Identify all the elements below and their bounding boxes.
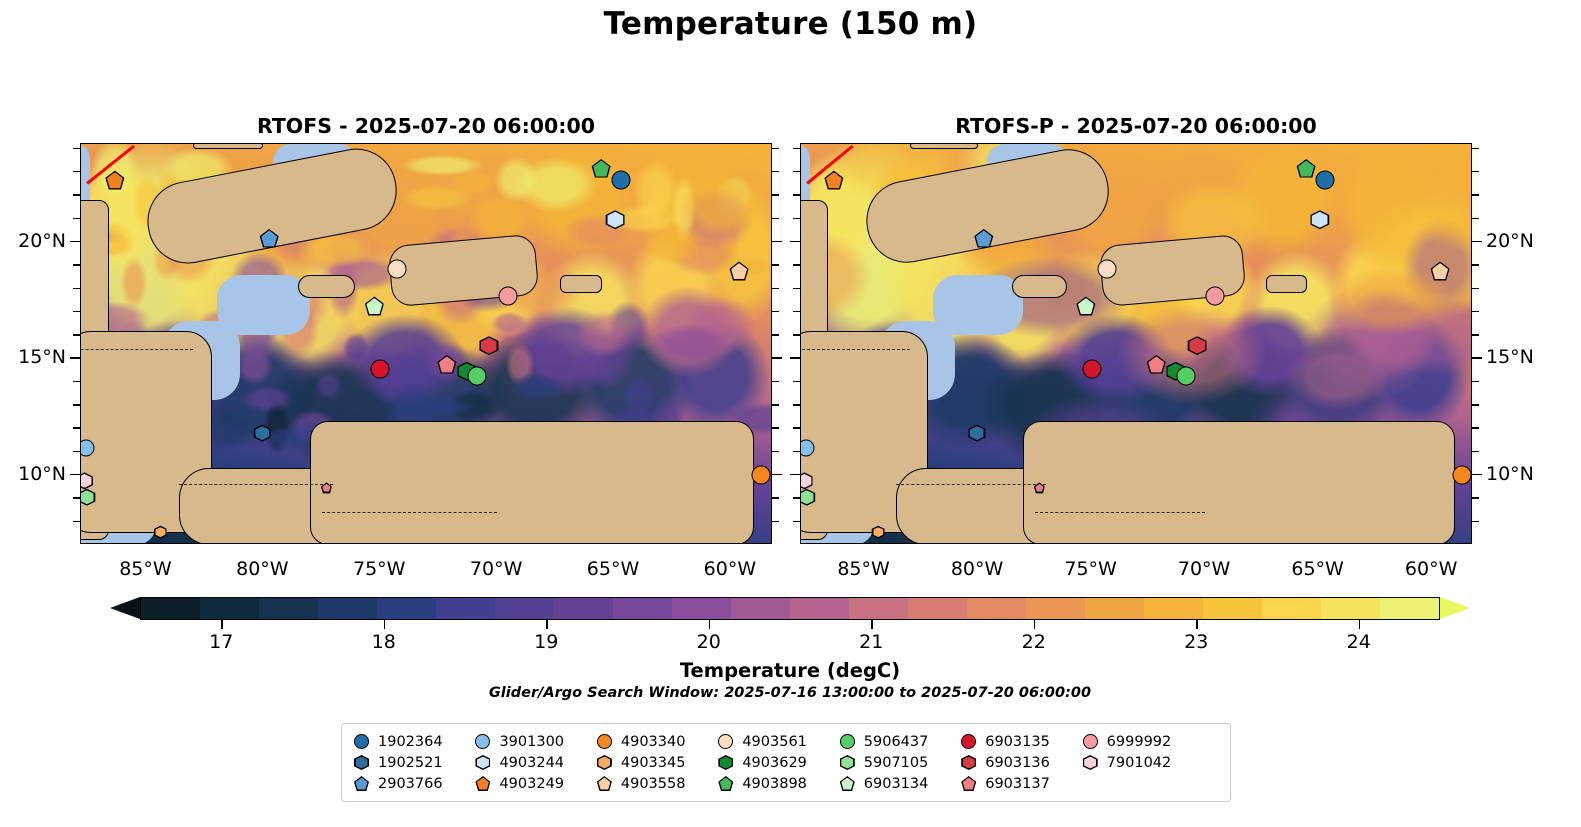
y-axis-tick	[793, 334, 800, 335]
legend-entry-4903345[interactable]: 4903345	[597, 755, 701, 771]
y-axis-tick	[1472, 381, 1479, 382]
float-marker-6999992[interactable]	[1206, 286, 1225, 305]
legend-marker-hexagon-icon	[475, 755, 490, 770]
landmass-jamaica	[298, 275, 354, 298]
y-axis-tick	[772, 427, 779, 428]
legend-entry-4903629[interactable]: 4903629	[718, 755, 822, 771]
landmass-puerto-rico	[560, 275, 602, 294]
colorbar-segment	[436, 598, 495, 619]
y-axis-tick	[1472, 521, 1479, 522]
y-axis-label: 20°N	[4, 230, 66, 252]
legend-marker-pentagon-icon	[840, 776, 855, 791]
colorbar-segment	[731, 598, 790, 619]
float-marker-6903135[interactable]	[371, 359, 390, 378]
legend-entry-3901300[interactable]: 3901300	[475, 734, 579, 750]
y-axis-tick	[772, 171, 779, 172]
y-axis-tick	[793, 381, 800, 382]
country-border	[179, 484, 333, 485]
marker-fill	[731, 263, 747, 279]
x-axis-label: 65°W	[587, 558, 639, 580]
float-marker-4903561[interactable]	[1098, 259, 1117, 278]
colorbar-tick-label: 18	[372, 631, 396, 653]
marker-fill	[976, 230, 992, 246]
map-frame-rtofs[interactable]	[80, 143, 772, 544]
y-axis-tick	[772, 194, 779, 195]
legend-entry-6999992[interactable]: 6999992	[1083, 734, 1187, 750]
y-axis-tick	[73, 334, 80, 335]
legend-marker-hexagon-icon	[840, 755, 855, 770]
colorbar-tick-label: 19	[534, 631, 558, 653]
colorbar-tick	[546, 620, 547, 629]
legend-label: 5907105	[864, 755, 929, 771]
y-axis-tick	[793, 451, 800, 452]
country-border	[896, 484, 1046, 485]
float-marker-6903136[interactable]	[1188, 336, 1207, 355]
float-marker-2903766[interactable]	[260, 229, 279, 248]
colorbar-tick-label: 17	[209, 631, 233, 653]
legend-entry-2903766[interactable]: 2903766	[354, 776, 458, 792]
marker-fill	[1432, 263, 1448, 279]
y-axis-tick	[772, 218, 779, 219]
legend-entry-1902364[interactable]: 1902364	[354, 734, 458, 750]
y-axis-label: 10°N	[4, 463, 66, 485]
y-axis-tick	[70, 241, 80, 242]
colorbar-segment	[318, 598, 377, 619]
float-marker-2903766[interactable]	[974, 229, 993, 248]
float-marker-1902364[interactable]	[612, 171, 631, 190]
y-axis-tick	[793, 288, 800, 289]
x-axis-label: 85°W	[119, 558, 171, 580]
legend-entry-1902521[interactable]: 1902521	[354, 755, 458, 771]
legend-label: 6903134	[864, 776, 929, 792]
y-axis-tick	[772, 497, 779, 498]
float-marker-6903137b[interactable]	[321, 482, 332, 493]
legend-marker-pentagon-icon	[961, 776, 976, 791]
landmass-florida	[193, 143, 263, 149]
y-axis-tick	[790, 474, 800, 475]
colorbar-tick	[1359, 620, 1360, 629]
colorbar-gradient	[140, 597, 1440, 620]
colorbar-segment	[1026, 598, 1085, 619]
landmass-colombia	[310, 421, 754, 544]
legend-entry-6903136[interactable]: 6903136	[961, 755, 1065, 771]
legend-entry-5907105[interactable]: 5907105	[840, 755, 944, 771]
legend-entry-4903898[interactable]: 4903898	[718, 776, 822, 792]
legend-label: 7901042	[1107, 755, 1172, 771]
y-axis-tick	[1472, 311, 1479, 312]
float-id-legend: 1902364190252129037663901300490324449032…	[341, 723, 1231, 802]
y-axis-tick	[1472, 194, 1479, 195]
legend-label: 4903244	[499, 755, 564, 771]
y-axis-label: 15°N	[4, 346, 66, 368]
country-border	[322, 512, 497, 513]
legend-label: 6903136	[985, 755, 1050, 771]
legend-entry-4903561[interactable]: 4903561	[718, 734, 822, 750]
float-marker-6903137b[interactable]	[1034, 482, 1045, 493]
legend-label: 1902521	[378, 755, 443, 771]
colorbar-tick-label: 21	[859, 631, 883, 653]
legend-marker-pentagon-icon	[475, 776, 490, 791]
y-axis-tick	[1472, 404, 1479, 405]
colorbar-segment	[790, 598, 849, 619]
colorbar-segment	[1085, 598, 1144, 619]
y-axis-tick	[790, 241, 800, 242]
y-axis-tick	[793, 521, 800, 522]
x-axis-label: 85°W	[837, 558, 889, 580]
y-axis-tick	[73, 451, 80, 452]
legend-entry-5906437[interactable]: 5906437	[840, 734, 944, 750]
legend-entry-4903558[interactable]: 4903558	[597, 776, 701, 792]
marker-fill	[439, 356, 455, 372]
y-axis-tick	[793, 497, 800, 498]
legend-label: 4903561	[742, 734, 807, 750]
y-axis-tick	[793, 404, 800, 405]
y-axis-label: 10°N	[1486, 463, 1534, 485]
colorbar-segment	[141, 598, 200, 619]
y-axis-tick	[73, 148, 80, 149]
y-axis-label: 20°N	[1486, 230, 1534, 252]
legend-label: 4903558	[621, 776, 686, 792]
colorbar-extend-max	[1440, 597, 1470, 619]
float-marker-4903340[interactable]	[752, 466, 771, 485]
float-marker-5907105[interactable]	[800, 489, 815, 506]
float-marker-6903137[interactable]	[1147, 355, 1166, 374]
legend-label: 6903137	[985, 776, 1050, 792]
float-marker-6999992[interactable]	[498, 286, 517, 305]
y-axis-tick	[772, 404, 779, 405]
y-axis-tick	[772, 381, 779, 382]
colorbar-segment	[1262, 598, 1321, 619]
x-axis-label: 70°W	[1178, 558, 1230, 580]
continental-shelf	[217, 275, 311, 336]
y-axis-tick	[1472, 264, 1479, 265]
y-axis-tick	[1472, 427, 1479, 428]
y-axis-tick	[793, 148, 800, 149]
x-axis-label: 65°W	[1291, 558, 1343, 580]
legend-label: 1902364	[378, 734, 443, 750]
legend-marker-circle-icon	[961, 734, 976, 749]
colorbar-tick	[384, 620, 385, 629]
y-axis-tick	[793, 427, 800, 428]
x-axis-label: 80°W	[236, 558, 288, 580]
legend-entry-6903134[interactable]: 6903134	[840, 776, 944, 792]
float-marker-4903898[interactable]	[592, 159, 611, 178]
float-marker-5906437[interactable]	[1176, 366, 1195, 385]
legend-label: 3901300	[499, 734, 564, 750]
continental-shelf	[933, 275, 1024, 336]
y-axis-tick	[73, 521, 80, 522]
float-marker-4903558[interactable]	[730, 262, 749, 281]
map-panel-rtofs-p: RTOFS-P - 2025-07-20 06:00:00	[800, 143, 1472, 544]
float-marker-1902364[interactable]	[1316, 171, 1335, 190]
y-axis-tick	[1472, 334, 1479, 335]
float-marker-4903249[interactable]	[824, 171, 843, 190]
colorbar-segment	[1321, 598, 1380, 619]
legend-label: 4903340	[621, 734, 686, 750]
landmass-jamaica	[1012, 275, 1066, 298]
colorbar-tick-label: 22	[1022, 631, 1046, 653]
colorbar-segment	[495, 598, 554, 619]
search-window-subtitle: Glider/Argo Search Window: 2025-07-16 13…	[140, 685, 1440, 701]
colorbar-segment	[1144, 598, 1203, 619]
legend-entry-6903135[interactable]: 6903135	[961, 734, 1065, 750]
colorbar-tick-label: 24	[1347, 631, 1371, 653]
float-marker-4903345[interactable]	[872, 526, 885, 539]
y-axis-tick	[793, 194, 800, 195]
float-marker-5906437[interactable]	[468, 366, 487, 385]
float-marker-4903340[interactable]	[1452, 466, 1471, 485]
panel-title-rtofs-p: RTOFS-P - 2025-07-20 06:00:00	[800, 114, 1472, 138]
legend-label: 6999992	[1107, 734, 1172, 750]
y-axis-label: 15°N	[1486, 346, 1534, 368]
country-border	[1035, 512, 1205, 513]
figure-canvas: Temperature (150 m) RTOFS - 2025-07-20 0…	[0, 0, 1581, 827]
y-axis-tick	[1472, 218, 1479, 219]
legend-marker-hexagon-icon	[354, 755, 369, 770]
y-axis-tick	[73, 497, 80, 498]
x-axis-label: 60°W	[704, 558, 756, 580]
y-axis-tick	[793, 171, 800, 172]
legend-entry-6903137[interactable]: 6903137	[961, 776, 1065, 792]
legend-label: 6903135	[985, 734, 1050, 750]
y-axis-tick	[1472, 148, 1479, 149]
y-axis-tick	[772, 357, 782, 358]
y-axis-tick	[1472, 451, 1479, 452]
y-axis-tick	[73, 218, 80, 219]
colorbar-segment	[377, 598, 436, 619]
float-marker-7901042[interactable]	[800, 472, 813, 489]
float-marker-4903244[interactable]	[606, 210, 625, 229]
legend-label: 4903629	[742, 755, 807, 771]
float-marker-4903898[interactable]	[1297, 159, 1316, 178]
legend-marker-circle-icon	[597, 734, 612, 749]
y-axis-tick	[1472, 241, 1482, 242]
marker-fill	[261, 230, 277, 246]
colorbar-segment	[554, 598, 613, 619]
x-axis-label: 70°W	[470, 558, 522, 580]
float-marker-4903244[interactable]	[1310, 210, 1329, 229]
y-axis-tick	[73, 264, 80, 265]
legend-entry-7901042[interactable]: 7901042	[1083, 755, 1187, 771]
x-axis-label: 75°W	[353, 558, 405, 580]
country-border	[800, 349, 910, 350]
colorbar-segment	[613, 598, 672, 619]
colorbar-extend-min	[110, 597, 140, 619]
colorbar-segment	[200, 598, 259, 619]
colorbar-tick	[709, 620, 710, 629]
marker-fill	[1148, 356, 1164, 372]
marker-fill	[1298, 160, 1314, 176]
y-axis-tick	[772, 334, 779, 335]
legend-label: 4903345	[621, 755, 686, 771]
y-axis-tick	[772, 311, 779, 312]
colorbar-tick	[1034, 620, 1035, 629]
legend-marker-pentagon-icon	[597, 776, 612, 791]
marker-fill	[1078, 298, 1094, 314]
float-marker-5907105[interactable]	[80, 489, 95, 506]
landmass-florida	[910, 143, 978, 149]
float-marker-4903561[interactable]	[387, 259, 406, 278]
y-axis-tick	[790, 357, 800, 358]
y-axis-tick	[73, 171, 80, 172]
colorbar: 1718192021222324Temperature (degC)Glider…	[140, 597, 1440, 620]
legend-marker-circle-icon	[354, 734, 369, 749]
y-axis-tick	[772, 148, 779, 149]
float-marker-6903134[interactable]	[365, 297, 384, 316]
legend-marker-circle-icon	[1083, 734, 1098, 749]
marker-fill	[593, 160, 609, 176]
map-frame-rtofs-p[interactable]	[800, 143, 1472, 544]
legend-entry-4903340[interactable]: 4903340	[597, 734, 701, 750]
country-border	[80, 349, 193, 350]
colorbar-segment	[849, 598, 908, 619]
marker-fill	[107, 172, 123, 188]
y-axis-tick	[1472, 497, 1479, 498]
colorbar-segment	[672, 598, 731, 619]
float-marker-6903135[interactable]	[1082, 359, 1101, 378]
y-axis-tick	[772, 451, 779, 452]
marker-fill	[826, 172, 842, 188]
float-marker-1902521[interactable]	[968, 425, 985, 442]
y-axis-tick	[73, 404, 80, 405]
colorbar-tick	[871, 620, 872, 629]
y-axis-tick	[73, 288, 80, 289]
legend-entry-4903244[interactable]: 4903244	[475, 755, 579, 771]
colorbar-tick	[221, 620, 222, 629]
y-axis-tick	[793, 264, 800, 265]
legend-marker-hexagon-icon	[597, 755, 612, 770]
map-panel-rtofs: RTOFS - 2025-07-20 06:00:00	[80, 143, 772, 544]
float-marker-7901042[interactable]	[80, 472, 93, 489]
colorbar-tick-label: 23	[1184, 631, 1208, 653]
colorbar-segment	[1380, 598, 1439, 619]
landmass-colombia	[1023, 421, 1454, 544]
y-axis-tick	[73, 381, 80, 382]
x-axis-label: 75°W	[1064, 558, 1116, 580]
legend-marker-circle-icon	[718, 734, 733, 749]
y-axis-tick	[1472, 288, 1479, 289]
page-title: Temperature (150 m)	[0, 6, 1581, 42]
legend-label: 4903898	[742, 776, 807, 792]
legend-label: 5906437	[864, 734, 929, 750]
legend-grid: 1902364190252129037663901300490324449032…	[354, 731, 1220, 794]
float-marker-1902521[interactable]	[254, 425, 271, 442]
y-axis-tick	[772, 264, 779, 265]
colorbar-title: Temperature (degC)	[140, 659, 1440, 682]
legend-marker-hexagon-icon	[718, 755, 733, 770]
legend-marker-circle-icon	[475, 734, 490, 749]
colorbar-tick	[1196, 620, 1197, 629]
float-marker-4903249[interactable]	[105, 171, 124, 190]
y-axis-tick	[70, 357, 80, 358]
float-marker-6903136[interactable]	[479, 336, 498, 355]
y-axis-tick	[772, 288, 779, 289]
y-axis-tick	[772, 521, 779, 522]
legend-marker-pentagon-icon	[718, 776, 733, 791]
y-axis-tick	[1472, 171, 1479, 172]
colorbar-segment	[1203, 598, 1262, 619]
y-axis-tick	[73, 194, 80, 195]
legend-marker-circle-icon	[840, 734, 855, 749]
float-marker-6903134[interactable]	[1076, 297, 1095, 316]
colorbar-segment	[908, 598, 967, 619]
colorbar-segment	[259, 598, 318, 619]
float-marker-4903558[interactable]	[1431, 262, 1450, 281]
y-axis-tick	[772, 241, 782, 242]
y-axis-tick	[1472, 474, 1482, 475]
y-axis-tick	[772, 474, 782, 475]
y-axis-tick	[793, 311, 800, 312]
float-marker-6903137[interactable]	[437, 355, 456, 374]
y-axis-tick	[70, 474, 80, 475]
legend-marker-pentagon-icon	[354, 776, 369, 791]
marker-fill	[366, 298, 382, 314]
colorbar-segment	[967, 598, 1026, 619]
legend-label: 4903249	[499, 776, 564, 792]
colorbar-tick-label: 20	[697, 631, 721, 653]
float-marker-4903345[interactable]	[154, 526, 167, 539]
panel-title-rtofs: RTOFS - 2025-07-20 06:00:00	[80, 114, 772, 138]
landmass-puerto-rico	[1266, 275, 1307, 294]
y-axis-tick	[1472, 357, 1482, 358]
legend-label: 2903766	[378, 776, 443, 792]
y-axis-tick	[73, 311, 80, 312]
y-axis-tick	[793, 218, 800, 219]
x-axis-label: 80°W	[951, 558, 1003, 580]
legend-marker-hexagon-icon	[961, 755, 976, 770]
legend-entry-4903249[interactable]: 4903249	[475, 776, 579, 792]
y-axis-tick	[73, 427, 80, 428]
x-axis-label: 60°W	[1405, 558, 1457, 580]
legend-marker-hexagon-icon	[1083, 755, 1098, 770]
